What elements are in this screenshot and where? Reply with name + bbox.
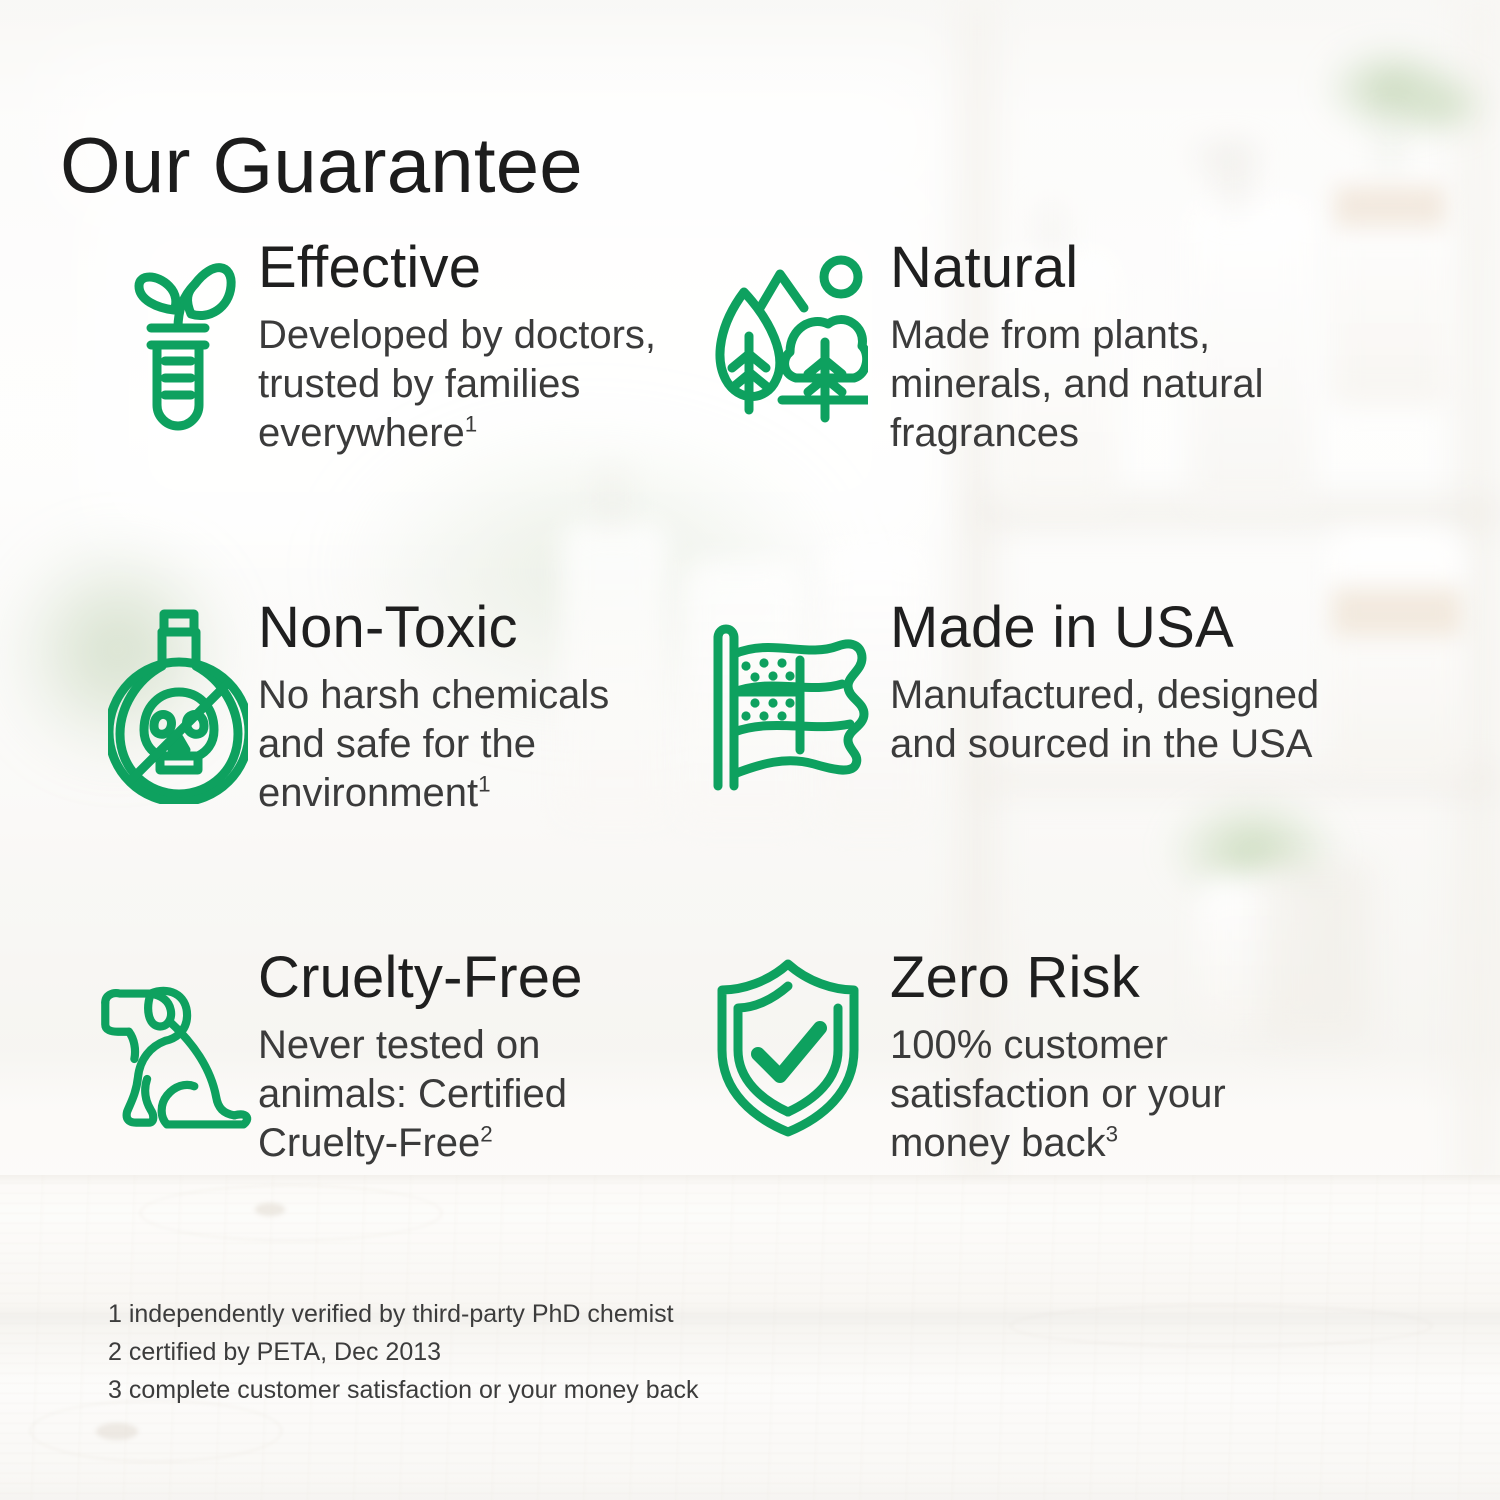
desc-line: and safe for the bbox=[258, 722, 536, 766]
desc-line: 100% customer bbox=[890, 1023, 1168, 1067]
feature-title: Zero Risk bbox=[890, 948, 1355, 1007]
desc-line: minerals, and natural bbox=[890, 362, 1264, 406]
feature-text: Effective Developed by doctors, trusted … bbox=[258, 238, 675, 458]
desc-line: trusted by families bbox=[258, 362, 580, 406]
desc-line: animals: Certified bbox=[258, 1072, 567, 1116]
footnote-item: 1 independently verified by third-party … bbox=[108, 1295, 699, 1333]
footnote-marker: 1 bbox=[465, 411, 477, 436]
features-row-2: Non-Toxic No harsh chemicals and safe fo… bbox=[0, 598, 1500, 948]
feature-title: Non-Toxic bbox=[258, 598, 675, 657]
feature-description: No harsh chemicals and safe for the envi… bbox=[258, 671, 675, 817]
desc-line: Cruelty-Free bbox=[258, 1121, 480, 1165]
poison-bottle-no-toxic-icon bbox=[98, 598, 258, 804]
feature-description: Made from plants, minerals, and natural … bbox=[890, 311, 1355, 457]
test-tube-sprout-icon bbox=[98, 238, 258, 433]
desc-line: everywhere bbox=[258, 411, 465, 455]
page-title: Our Guarantee bbox=[60, 126, 583, 204]
usa-flag-icon bbox=[685, 598, 890, 794]
feature-cruelty-free: Cruelty-Free Never tested on animals: Ce… bbox=[0, 948, 675, 1228]
feature-title: Natural bbox=[890, 238, 1355, 297]
features-row-1: Effective Developed by doctors, trusted … bbox=[0, 238, 1500, 598]
desc-line: Developed by doctors, bbox=[258, 313, 656, 357]
feature-made-in-usa: Made in USA Manufactured, designed and s… bbox=[675, 598, 1355, 948]
feature-zero-risk: Zero Risk 100% customer satisfaction or … bbox=[675, 948, 1355, 1228]
guarantee-infographic: Our Guarantee bbox=[0, 0, 1500, 1500]
desc-line: No harsh chemicals bbox=[258, 673, 609, 717]
shield-check-icon bbox=[685, 948, 890, 1138]
desc-line: satisfaction or your bbox=[890, 1072, 1226, 1116]
desc-line: Never tested on bbox=[258, 1023, 540, 1067]
footnote-marker: 2 bbox=[480, 1121, 492, 1146]
content-layer: Our Guarantee bbox=[0, 0, 1500, 1500]
feature-text: Made in USA Manufactured, designed and s… bbox=[890, 598, 1355, 769]
sitting-dog-icon bbox=[98, 948, 258, 1138]
footnotes: 1 independently verified by third-party … bbox=[108, 1295, 699, 1409]
desc-line: and sourced in the USA bbox=[890, 722, 1312, 766]
footnote-marker: 3 bbox=[1106, 1121, 1118, 1146]
desc-line: Made from plants, bbox=[890, 313, 1210, 357]
feature-title: Effective bbox=[258, 238, 675, 297]
desc-line: environment bbox=[258, 771, 478, 815]
feature-effective: Effective Developed by doctors, trusted … bbox=[0, 238, 675, 598]
desc-line: Manufactured, designed bbox=[890, 673, 1319, 717]
feature-text: Cruelty-Free Never tested on animals: Ce… bbox=[258, 948, 675, 1168]
features-row-3: Cruelty-Free Never tested on animals: Ce… bbox=[0, 948, 1500, 1228]
desc-line: money back bbox=[890, 1121, 1106, 1165]
feature-description: Manufactured, designed and sourced in th… bbox=[890, 671, 1355, 769]
footnote-item: 2 certified by PETA, Dec 2013 bbox=[108, 1333, 699, 1371]
feature-natural: Natural Made from plants, minerals, and … bbox=[675, 238, 1355, 598]
footnote-item: 3 complete customer satisfaction or your… bbox=[108, 1371, 699, 1409]
desc-line: fragrances bbox=[890, 411, 1079, 455]
feature-text: Natural Made from plants, minerals, and … bbox=[890, 238, 1355, 458]
feature-title: Cruelty-Free bbox=[258, 948, 675, 1007]
feature-non-toxic: Non-Toxic No harsh chemicals and safe fo… bbox=[0, 598, 675, 948]
feature-description: 100% customer satisfaction or your money… bbox=[890, 1021, 1355, 1167]
footnote-marker: 1 bbox=[478, 771, 490, 796]
feature-text: Non-Toxic No harsh chemicals and safe fo… bbox=[258, 598, 675, 818]
feature-text: Zero Risk 100% customer satisfaction or … bbox=[890, 948, 1355, 1168]
leaf-tree-nature-icon bbox=[685, 238, 890, 430]
features-grid: Effective Developed by doctors, trusted … bbox=[0, 238, 1500, 1228]
feature-description: Developed by doctors, trusted by familie… bbox=[258, 311, 675, 457]
feature-title: Made in USA bbox=[890, 598, 1355, 657]
feature-description: Never tested on animals: Certified Cruel… bbox=[258, 1021, 675, 1167]
